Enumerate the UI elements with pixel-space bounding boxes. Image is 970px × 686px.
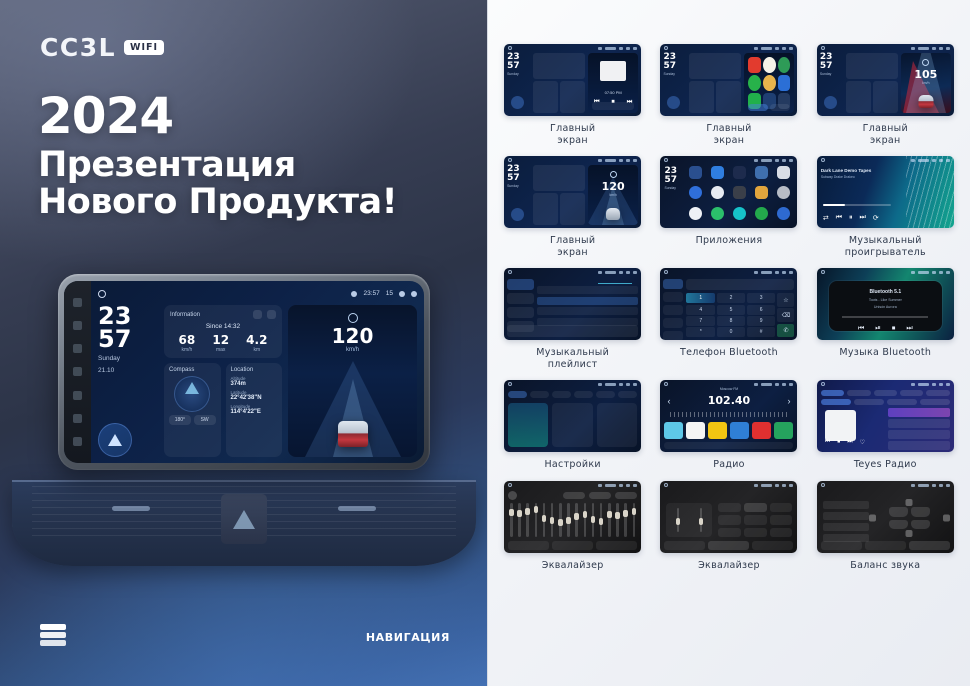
tab-widgets[interactable] [770, 104, 790, 111]
tab-balance [708, 541, 749, 550]
gallery-cell[interactable]: Эквалайзер [498, 481, 647, 572]
clock-day: Sunday [820, 72, 843, 76]
station-list[interactable] [888, 408, 950, 450]
tab-system [618, 391, 637, 398]
status-icons [754, 383, 793, 386]
navigation-shortcut-button[interactable] [824, 96, 837, 109]
preset-driver [823, 501, 869, 509]
track-list[interactable] [537, 286, 638, 326]
back-icon [789, 47, 793, 50]
eq-slider [700, 508, 703, 532]
navigation-caption: НАВИГАЦИЯ [366, 631, 450, 644]
clock-day: Sunday [663, 72, 686, 76]
gear-icon [626, 159, 630, 162]
tile-caption: Телефон Bluetooth [680, 347, 778, 359]
preset-vocal [770, 515, 793, 524]
button-settings-icon[interactable] [73, 344, 82, 353]
next-icon[interactable]: ⏭ [906, 325, 912, 333]
equalizer-footer-tabs[interactable] [664, 541, 793, 550]
app-clock[interactable] [708, 186, 726, 203]
repeat-icon[interactable]: ⟳ [873, 214, 879, 222]
play-pause-icon[interactable]: ⏯ [875, 325, 881, 333]
gear-icon [939, 271, 943, 274]
screenshot-settings[interactable] [504, 380, 641, 452]
home-icon[interactable] [664, 270, 668, 274]
back-icon [633, 383, 637, 386]
longitude-row: Longitude 114°4'22"E [231, 404, 278, 415]
hardware-button-strip[interactable] [64, 281, 91, 463]
logo-text: CC3L [40, 33, 116, 62]
bt-controls[interactable]: ⏮ ⏯ ⏹ ⏭ [829, 325, 942, 333]
dashboard-vent [12, 480, 476, 566]
gallery-cell[interactable]: 23 57 Sunday [654, 44, 803, 146]
balance-right-button[interactable] [943, 515, 950, 522]
phone-sidebar[interactable] [663, 279, 683, 340]
app-play-store[interactable] [752, 207, 770, 224]
speedometer-icon [922, 59, 929, 66]
app-icon-youtube[interactable] [748, 57, 761, 73]
home-icon[interactable] [98, 290, 106, 298]
app-camera[interactable] [774, 166, 792, 183]
gallery-cell[interactable]: 23 57 Sunday [498, 156, 647, 258]
volume-icon [932, 47, 936, 50]
back-icon [946, 271, 950, 274]
drive-view-panel[interactable]: 105 km/h [901, 53, 951, 113]
eq-reset-button[interactable] [589, 492, 611, 499]
compass-dial-icon [174, 376, 210, 412]
speed-readout: 105 km/h [901, 59, 951, 85]
preset-6 [774, 422, 793, 439]
home-icon[interactable] [821, 270, 825, 274]
button-mode-icon[interactable] [73, 321, 82, 330]
media-toolbar[interactable] [592, 102, 634, 110]
status-bar [504, 481, 641, 489]
home-icon[interactable] [508, 270, 512, 274]
phone-number-input[interactable] [686, 279, 794, 290]
dialpad-key-hash[interactable]: # [747, 327, 776, 337]
app-icon-files[interactable] [778, 75, 791, 91]
app-icon-spotify[interactable] [748, 75, 761, 91]
button-volume-up-icon[interactable] [73, 437, 82, 446]
volume-icon [932, 271, 936, 274]
tab-personal [596, 391, 615, 398]
gallery-cell[interactable]: Moscow FM ‹ 102.40 › Радио [654, 380, 803, 471]
tab-eq [821, 541, 862, 550]
screenshot-home-drive[interactable]: 23 57 Sunday [504, 156, 641, 228]
clock-minutes: 57 [820, 62, 843, 71]
wifi-badge: WIFI [124, 40, 164, 55]
information-card[interactable] [689, 53, 741, 79]
pause-icon[interactable]: ⏸ [849, 214, 853, 222]
backspace-icon[interactable]: ⌫ [777, 308, 794, 322]
eq-preset-grid[interactable] [718, 503, 792, 537]
home-icon[interactable] [664, 483, 668, 487]
dialpad-key-star[interactable]: * [686, 327, 715, 337]
clock-icon [761, 271, 772, 274]
app-icon-chrome[interactable] [763, 57, 776, 73]
app-radio[interactable] [774, 207, 792, 224]
player-controls[interactable]: ⏮⏹⏭♡ [825, 439, 865, 446]
app-icon-maps [711, 207, 724, 220]
next-icon[interactable]: ⏭ [860, 214, 866, 222]
clock-column: 23 57 Sunday [507, 165, 530, 225]
app-maps[interactable] [708, 207, 726, 224]
balance-presets[interactable] [823, 501, 869, 542]
equalizer-header[interactable] [508, 491, 637, 499]
home-layout: 23 57 Sunday 07:50 PM ⏮⏹⏭ [507, 53, 638, 113]
settings-tabs[interactable] [508, 391, 637, 398]
home-layout: 23 57 Sunday [507, 165, 638, 225]
dialer-actions[interactable]: ☆ ⌫ ✆ [777, 293, 794, 337]
stop-icon: ⏹ [837, 439, 840, 446]
app-dvr[interactable] [730, 186, 748, 203]
app-gallery[interactable] [774, 186, 792, 203]
app-file-manager[interactable] [752, 186, 770, 203]
clock-icon [918, 383, 929, 386]
home-icon[interactable] [821, 483, 825, 487]
home-icon[interactable] [664, 382, 668, 386]
home-icon[interactable] [508, 158, 512, 162]
dialpad-key-9[interactable]: 9 [747, 316, 776, 326]
tab-balance [552, 541, 593, 550]
drive-view-panel[interactable]: 120 km/h [588, 165, 638, 225]
screenshot-home-media[interactable]: 23 57 Sunday 07:50 PM ⏮⏹⏭ [504, 44, 641, 116]
preset-4 [730, 422, 749, 439]
tab-factory [574, 391, 593, 398]
home-icon[interactable] [664, 158, 668, 162]
clock-minutes: 57 [664, 176, 686, 185]
button-home-icon[interactable] [73, 367, 82, 376]
location-card[interactable]: Location Altitude 374m Latitude [226, 363, 283, 457]
eq-slider [616, 503, 619, 537]
previous-icon[interactable]: ⏮ [858, 325, 864, 333]
app-chrome[interactable] [686, 186, 704, 203]
gear-icon [626, 383, 630, 386]
preset-flat [718, 528, 741, 537]
speed-readout: 120 km/h [288, 313, 417, 353]
station-presets[interactable] [664, 422, 793, 439]
dialpad-key-3[interactable]: 3 [747, 293, 776, 303]
eq-slider [510, 503, 513, 537]
fade-rear-button[interactable] [906, 530, 913, 537]
home-icon[interactable] [821, 158, 825, 162]
preset-bass [744, 528, 767, 537]
preset-jazz [718, 515, 741, 524]
app-calculator[interactable] [752, 166, 770, 183]
dialpad-key-6[interactable]: 6 [747, 305, 776, 315]
progress-bar[interactable] [842, 316, 928, 317]
clock-day: Sunday [98, 355, 158, 363]
information-card-actions[interactable] [253, 310, 276, 319]
altitude-value: 374m [231, 381, 278, 387]
caption-line2: экран [870, 135, 901, 146]
wifi-icon [911, 271, 915, 274]
equalizer-footer-tabs[interactable] [821, 541, 950, 550]
navigation-shortcut-button[interactable] [667, 96, 680, 109]
frequency-scale[interactable] [670, 412, 787, 417]
gallery-cell[interactable]: Эквалайзер [654, 481, 803, 572]
preset-icon[interactable] [508, 491, 517, 500]
compass-card[interactable]: Compass 180° SW [164, 363, 221, 457]
eq-slider [575, 503, 578, 537]
wifi-icon [911, 383, 915, 386]
radio-band-label: Moscow FM [660, 387, 797, 391]
app-google[interactable] [686, 207, 704, 224]
preset-rear [823, 523, 869, 531]
volume-icon [619, 47, 623, 50]
wifi-icon [598, 484, 602, 487]
stat-speed: 68 km/h [179, 333, 196, 353]
gallery-cell[interactable]: Dark Lane Demo Tapes Subway Drake Drakeo… [811, 156, 960, 258]
app-drawer-grid[interactable] [686, 166, 792, 224]
preset-front [823, 512, 869, 520]
info-column [846, 53, 898, 113]
call-icon[interactable]: ✆ [777, 324, 794, 338]
playlist-tabs[interactable] [537, 278, 638, 284]
status-right: 23:57 15 [351, 290, 417, 297]
gallery-cell[interactable]: Настройки [498, 380, 647, 471]
screenshot-teyes-radio[interactable]: ⏮⏹⏭♡ [817, 380, 954, 452]
back-icon [633, 159, 637, 162]
gallery-cell[interactable]: 1 2 3 4 5 6 7 8 9 * 0 # ☆ [654, 268, 803, 370]
drive-view-panel[interactable]: 120 km/h [288, 305, 417, 457]
compass-heading: 180° [169, 415, 191, 425]
status-icons [754, 271, 793, 274]
tile-caption: Главныйэкран [863, 123, 908, 146]
tile-caption: Главныйэкран [706, 123, 751, 146]
sidebar-item-favorites [663, 318, 683, 328]
screenshot-music-player[interactable]: Dark Lane Demo Tapes Subway Drake Drakeo… [817, 156, 954, 228]
hazard-triangle-icon [233, 510, 255, 529]
eq-preset-button[interactable] [563, 492, 585, 499]
dialpad-key-1[interactable]: 1 [686, 293, 715, 303]
speedometer-icon [610, 171, 617, 178]
stat-distance-value: 4.2 [246, 333, 267, 347]
car-model-icon [338, 421, 368, 447]
player-controls[interactable]: ⇄ ⏮ ⏸ ⏭ ⟳ [823, 214, 879, 222]
app-icon-gallery[interactable] [763, 75, 776, 91]
screenshot-equalizer-simple[interactable] [660, 481, 797, 553]
eq-slider [633, 503, 636, 537]
clock-icon [918, 47, 929, 50]
hero-title: 2024 Презентация Нового Продукта! [38, 90, 468, 221]
back-icon [633, 484, 637, 487]
radio-toolbar[interactable] [664, 442, 793, 449]
dialpad-key-4[interactable]: 4 [686, 305, 715, 315]
location-card [560, 81, 585, 113]
information-card[interactable] [846, 53, 898, 79]
home-icon[interactable] [821, 382, 825, 386]
status-icons [911, 271, 950, 274]
clock-icon [918, 271, 929, 274]
balance-left-button[interactable] [869, 515, 876, 522]
equalizer-sliders[interactable] [510, 503, 635, 537]
dialpad-key-8[interactable]: 8 [717, 316, 746, 326]
app-multi-player[interactable] [730, 207, 748, 224]
button-power-icon[interactable] [73, 298, 82, 307]
settings-tiles[interactable] [508, 403, 637, 447]
eq-slider [608, 503, 611, 537]
bass-treble-sliders[interactable] [666, 503, 712, 537]
gear-icon [626, 47, 630, 50]
caption-line1: Музыкальный [849, 235, 922, 246]
hazard-button[interactable] [221, 494, 267, 544]
status-icons [911, 47, 950, 50]
refresh-icon[interactable] [253, 310, 262, 319]
sidebar-item-artists [507, 307, 534, 318]
location-card [716, 81, 741, 113]
app-aux[interactable] [686, 166, 704, 183]
screenshot-sound-balance[interactable] [817, 481, 954, 553]
gallery-cell[interactable]: ⏮⏹⏭♡ Teyes Радио [811, 380, 960, 471]
tile-caption: Настройки [544, 459, 600, 471]
button-volume-down-icon[interactable] [73, 414, 82, 423]
gallery-cell[interactable]: Баланс звука [811, 481, 960, 572]
status-clock: 23:57 [363, 290, 379, 297]
tile-more [597, 403, 637, 447]
seat-front-right [911, 507, 930, 517]
head-unit-screen[interactable]: 23:57 15 23 57 Sunday [64, 281, 424, 463]
location-title: Location [231, 367, 254, 373]
dialpad-key-2[interactable]: 2 [717, 293, 746, 303]
eq-slider [624, 503, 627, 537]
back-icon [789, 383, 793, 386]
navigation-shortcut-button[interactable] [511, 96, 524, 109]
caption-line2: экран [557, 135, 588, 146]
screenshot-radio[interactable]: Moscow FM ‹ 102.40 › [660, 380, 797, 452]
home-icon[interactable] [508, 382, 512, 386]
status-bar [817, 380, 954, 388]
filter-recent [887, 399, 917, 405]
stat-time-value: 12 [212, 333, 229, 347]
home-icon[interactable] [821, 46, 825, 50]
eq-slider [535, 503, 538, 537]
tile-caption: Эквалайзер [698, 560, 760, 572]
dialpad-key-7[interactable]: 7 [686, 316, 715, 326]
screenshot-bluetooth-phone[interactable]: 1 2 3 4 5 6 7 8 9 * 0 # ☆ [660, 268, 797, 340]
clock-day: Sunday [664, 186, 686, 190]
dialpad-key-0[interactable]: 0 [717, 327, 746, 337]
expand-icon[interactable] [267, 310, 276, 319]
app-shortcut-panel[interactable] [744, 53, 794, 113]
gallery-cell[interactable]: 23 57 Sunday [654, 156, 803, 258]
caption-line1: Эквалайзер [542, 560, 604, 571]
navigation-arrow-icon [108, 434, 122, 446]
status-bar [504, 380, 641, 388]
tab-apps[interactable] [748, 104, 768, 111]
dialpad-key-5[interactable]: 5 [717, 305, 746, 315]
now-playing-bar[interactable] [507, 325, 638, 337]
progress-bar[interactable] [823, 204, 891, 206]
gallery-cell[interactable]: Bluetooth 5.1 Toots - Like Summer Unisón… [811, 268, 960, 370]
information-card[interactable]: Information Since 14:32 [164, 305, 282, 358]
button-back-icon[interactable] [73, 391, 82, 400]
favorite-icon[interactable]: ☆ [777, 293, 794, 307]
navigation-shortcut-button[interactable] [511, 208, 524, 221]
eq-save-button[interactable] [615, 492, 637, 499]
layers-icon [40, 624, 66, 646]
speed-value: 120 [588, 181, 638, 192]
tab-field [596, 541, 637, 550]
status-bar: 23:57 15 [98, 287, 417, 300]
caption-line2: проигрыватель [845, 247, 926, 258]
screenshot-bluetooth-music[interactable]: Bluetooth 5.1 Toots - Like Summer Unisón… [817, 268, 954, 340]
waveform-decoration [906, 156, 954, 228]
teyes-radio-filters[interactable] [821, 399, 950, 405]
status-bar [817, 268, 954, 276]
app-bluetooth-music[interactable] [730, 166, 748, 183]
gear-icon [939, 383, 943, 386]
gallery-cell[interactable]: 23 57 Sunday [811, 44, 960, 146]
status-bar [504, 268, 641, 276]
next-station-icon[interactable]: › [787, 396, 790, 406]
hero-title-line2: Нового Продукта! [38, 184, 468, 221]
teyes-radio-tabs[interactable] [821, 390, 950, 396]
screenshot-home-apps[interactable]: 23 57 Sunday [660, 44, 797, 116]
screenshot-equalizer-bands[interactable] [504, 481, 641, 553]
home-icon[interactable] [664, 46, 668, 50]
compass-location-row [689, 81, 741, 113]
stop-icon[interactable]: ⏹ [892, 325, 896, 333]
clock-icon [761, 159, 772, 162]
app-bluetooth[interactable] [708, 166, 726, 183]
screenshot-music-playlist[interactable] [504, 268, 641, 340]
location-header: Location [231, 367, 278, 373]
volume-icon [619, 484, 623, 487]
car-model-icon [606, 208, 620, 220]
car-dashboard-photo: 23:57 15 23 57 Sunday [0, 262, 487, 686]
information-card[interactable] [533, 53, 585, 79]
hero-year: 2024 [38, 90, 468, 143]
previous-icon[interactable]: ⏮ [836, 214, 842, 222]
balance-stage[interactable] [879, 499, 940, 537]
tab-sound [530, 391, 549, 398]
status-icons [598, 271, 637, 274]
bluetooth-card: Bluetooth 5.1 Toots - Like Summer Unisón… [829, 281, 942, 331]
list-item [888, 408, 950, 417]
preset-country [770, 528, 793, 537]
screenshot-home-speed[interactable]: 23 57 Sunday [817, 44, 954, 116]
gear-icon [939, 484, 943, 487]
fade-front-button[interactable] [906, 499, 913, 506]
status-icons [598, 484, 637, 487]
caption-line2: экран [714, 135, 745, 146]
gallery-cell[interactable]: Музыкальныйплейлист [498, 268, 647, 370]
back-icon[interactable] [411, 291, 417, 297]
screenshot-apps[interactable]: 23 57 Sunday [660, 156, 797, 228]
caption-line1: Музыка Bluetooth [839, 347, 931, 358]
speed-readout: 120 km/h [588, 171, 638, 197]
gear-icon[interactable] [399, 291, 405, 297]
information-card[interactable] [533, 165, 585, 191]
equalizer-footer-tabs[interactable] [508, 541, 637, 550]
clock-minutes: 57 [98, 328, 158, 351]
status-icons [754, 159, 793, 162]
dialpad[interactable]: 1 2 3 4 5 6 7 8 9 * 0 # [686, 293, 775, 337]
home-icon[interactable] [508, 46, 512, 50]
navigation-shortcut-button[interactable] [98, 423, 132, 457]
compass-header: Compass [169, 367, 216, 373]
app-icon-maps[interactable] [778, 57, 791, 73]
home-icon[interactable] [508, 483, 512, 487]
preset-2 [686, 422, 705, 439]
gallery-cell[interactable]: 23 57 Sunday 07:50 PM ⏮⏹⏭ [498, 44, 647, 146]
media-widget[interactable]: 07:50 PM ⏮⏹⏭ [588, 53, 638, 113]
tab-balance [865, 541, 906, 550]
shuffle-icon[interactable]: ⇄ [823, 214, 829, 222]
app-icon-camera [777, 166, 790, 179]
stat-speed-value: 68 [179, 333, 196, 347]
